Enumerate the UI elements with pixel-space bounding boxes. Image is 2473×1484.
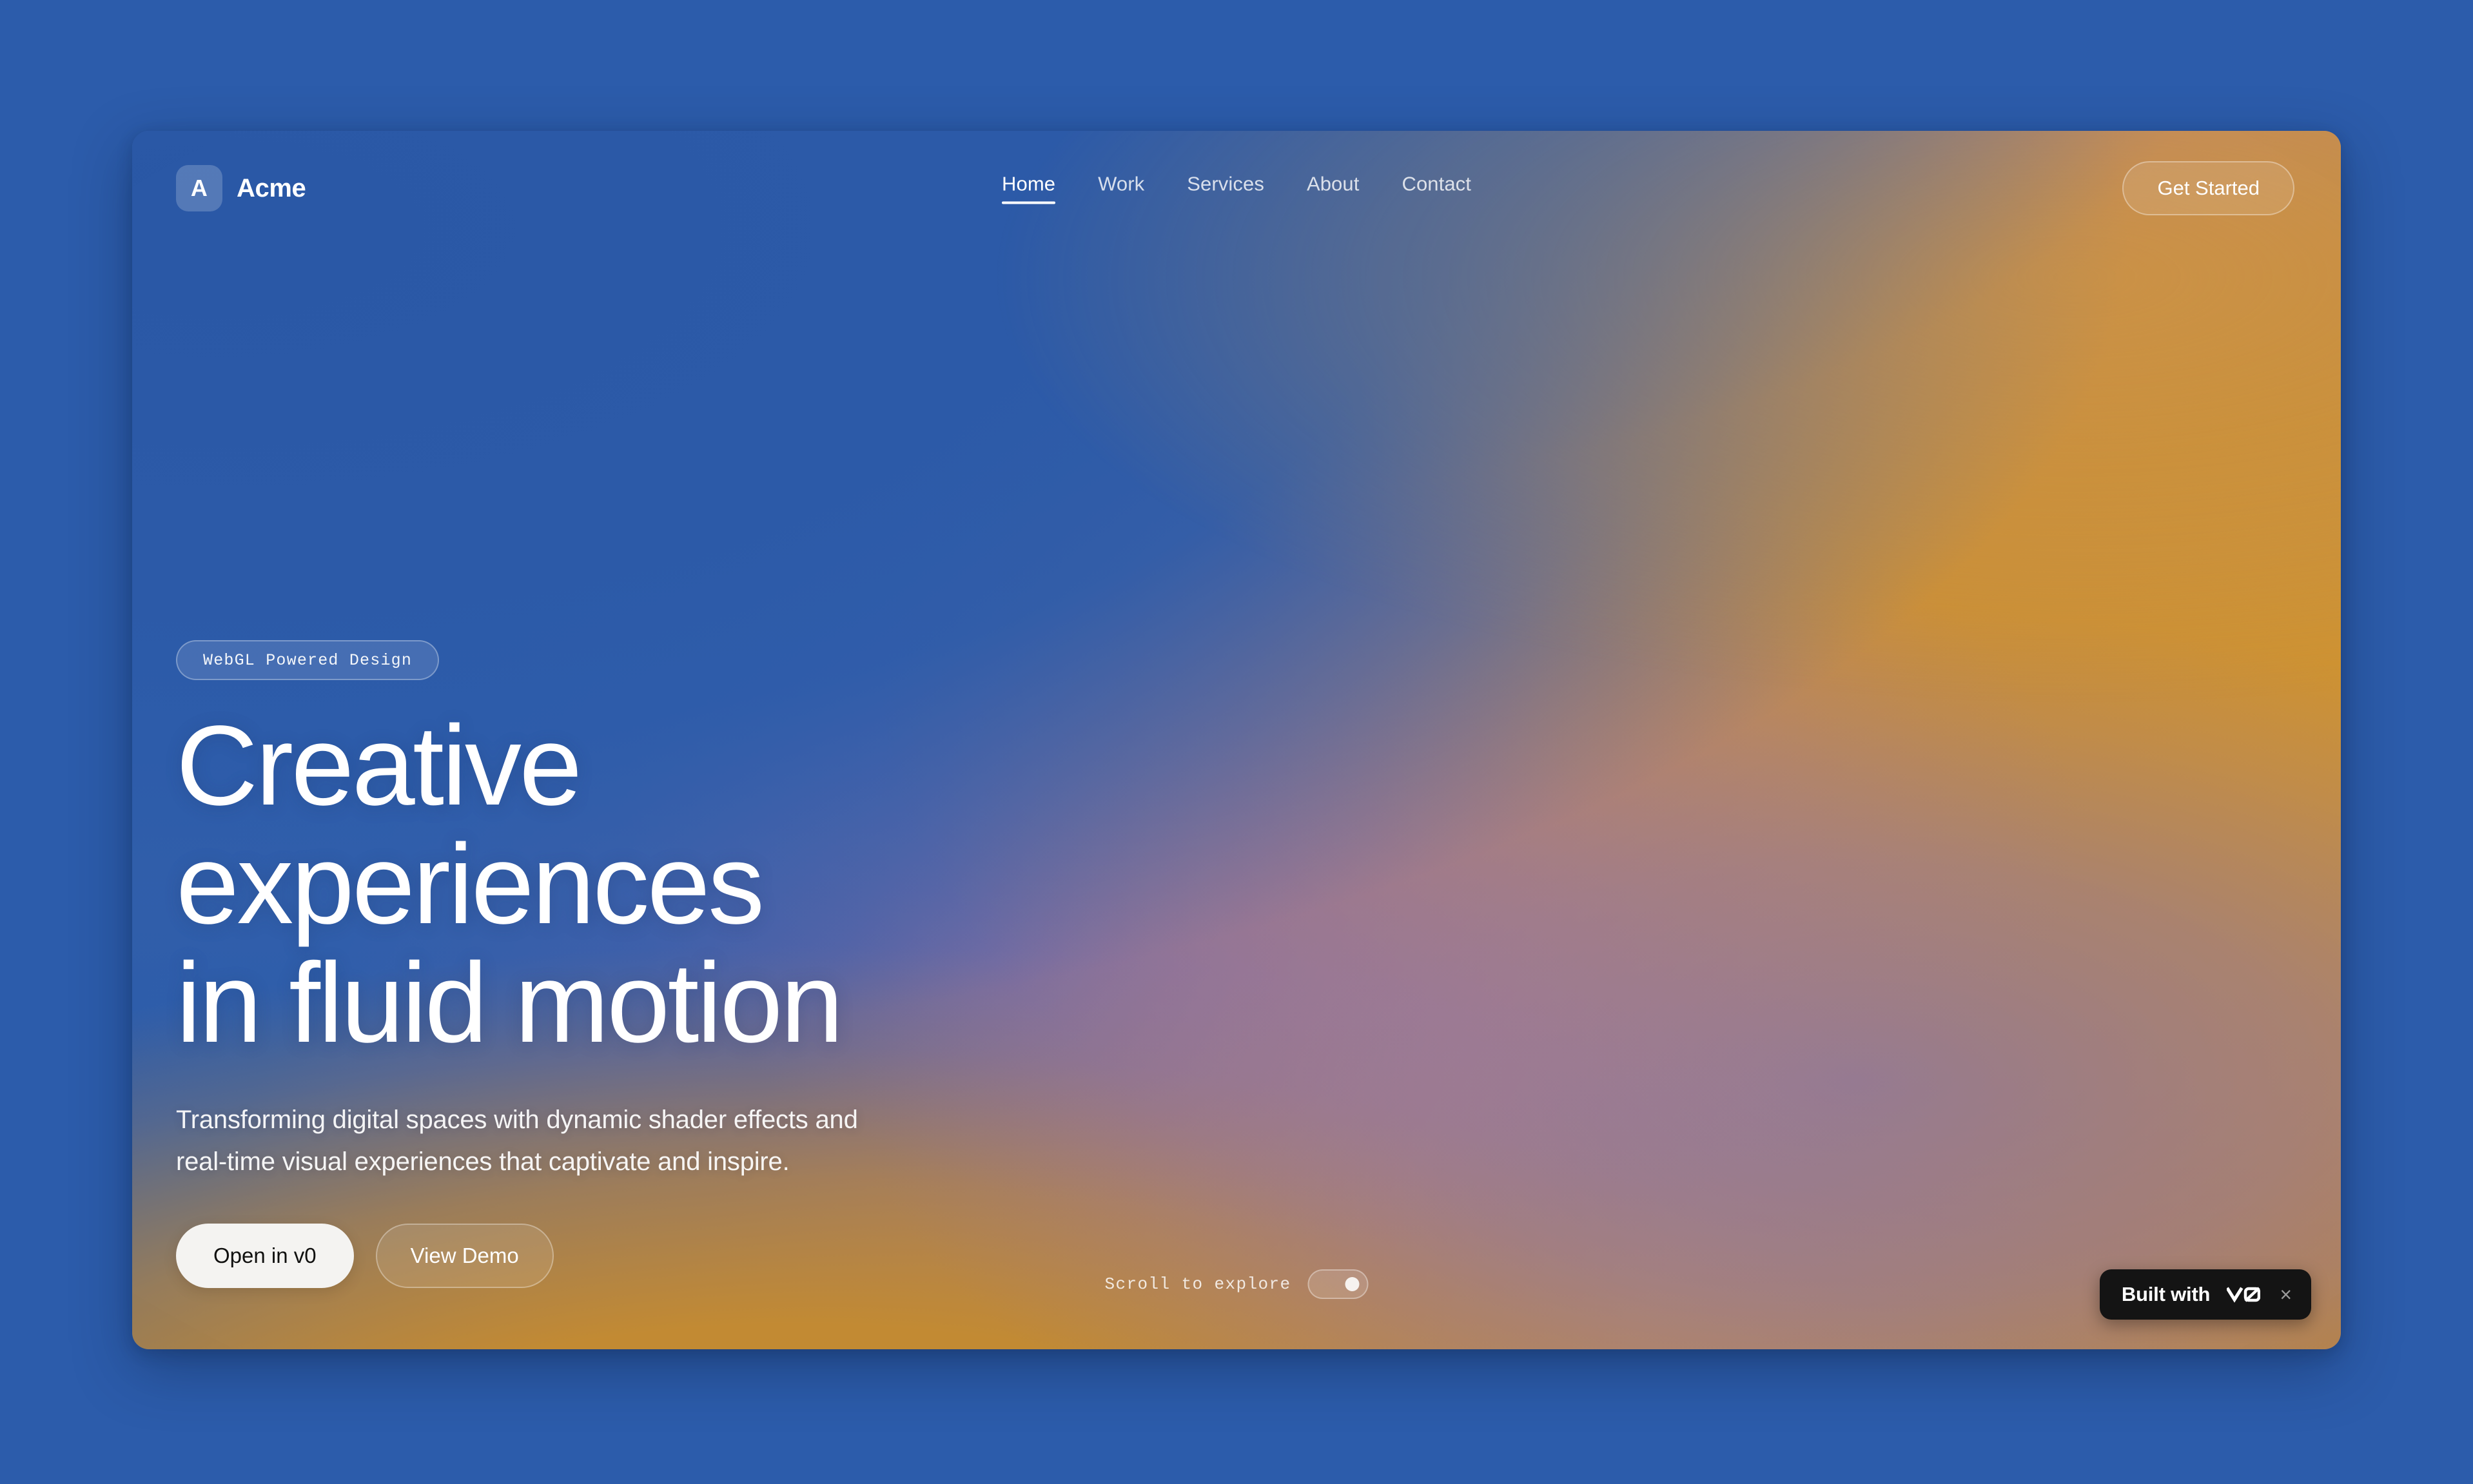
brand-logo[interactable]: A Acme [176,165,306,211]
scroll-hint-label: Scroll to explore [1104,1274,1291,1294]
hero-subtitle: Transforming digital spaces with dynamic… [176,1099,858,1183]
hero-subtitle-line-1: Transforming digital spaces with dynamic… [176,1099,858,1141]
built-with-label: Built with [2122,1283,2210,1306]
hero-preview-card: A Acme Home Work Services About Contact … [132,131,2341,1349]
nav-item-work[interactable]: Work [1098,173,1144,204]
brand-square-icon: A [176,165,222,211]
built-with-badge[interactable]: Built with × [2100,1269,2311,1320]
desktop-backdrop: A Acme Home Work Services About Contact … [0,0,2473,1484]
scroll-pill-thumb [1345,1277,1360,1291]
hero-title-line-2: experiences [176,826,858,944]
nav-item-home[interactable]: Home [1002,173,1055,204]
scroll-pill-icon[interactable] [1308,1269,1369,1299]
open-in-v0-button[interactable]: Open in v0 [176,1224,354,1288]
scroll-hint: Scroll to explore [1104,1269,1368,1299]
hero-content: WebGL Powered Design Creative experience… [176,640,858,1288]
nav-item-about[interactable]: About [1307,173,1360,204]
nav-item-contact[interactable]: Contact [1402,173,1471,204]
hero-title: Creative experiences in fluid motion [176,707,858,1063]
v0-logo-icon [2227,1284,2260,1305]
brand-name: Acme [237,174,306,203]
hero-title-line-1: Creative [176,707,858,826]
view-demo-button[interactable]: View Demo [376,1224,554,1288]
primary-nav: Home Work Services About Contact [1002,173,1471,204]
brand-mark-letter: A [191,175,208,202]
site-header: A Acme Home Work Services About Contact … [132,131,2341,246]
nav-item-services[interactable]: Services [1187,173,1264,204]
close-icon[interactable]: × [2277,1284,2294,1305]
get-started-button[interactable]: Get Started [2122,161,2294,215]
hero-subtitle-line-2: real-time visual experiences that captiv… [176,1141,858,1183]
hero-title-line-3: in fluid motion [176,944,858,1063]
hero-badge: WebGL Powered Design [176,640,439,680]
hero-actions: Open in v0 View Demo [176,1224,858,1288]
